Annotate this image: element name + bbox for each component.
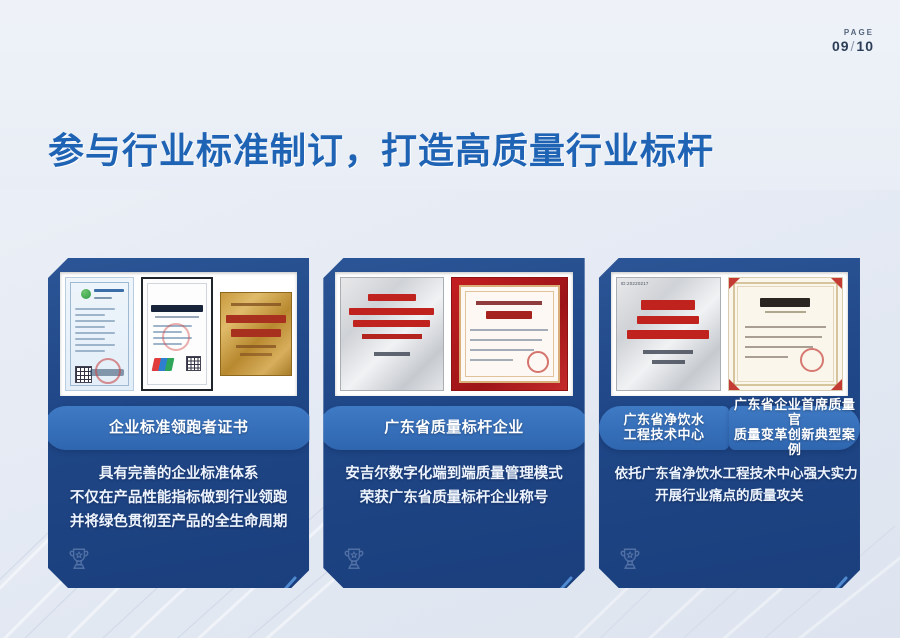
card-bottom-edge bbox=[70, 590, 283, 594]
card-body-line: 不仅在产品性能指标做到行业领跑 bbox=[64, 487, 293, 511]
card-label-pill[interactable]: 企业标准领跑者证书 bbox=[44, 406, 313, 450]
certificate-honor-2020 bbox=[451, 277, 568, 391]
plaque-id-tag: ID:20220217 bbox=[621, 281, 649, 286]
corner-stripes-decor bbox=[824, 558, 876, 602]
trophy-icon bbox=[341, 546, 367, 572]
card-body-line: 荣获广东省质量标杆企业称号 bbox=[339, 487, 568, 511]
page-indicator: PAGE 09/10 bbox=[832, 28, 874, 56]
card-body-text: 具有完善的企业标准体系 不仅在产品性能指标做到行业领跑 并将绿色贯彻至产品的全生… bbox=[64, 463, 293, 535]
plaque-national-green-factory bbox=[220, 292, 293, 376]
card-left-edge bbox=[593, 276, 597, 566]
card-enterprise-standard-leader[interactable]: 企业标准领跑者证书 具有完善的企业标准体系 不仅在产品性能指标做到行业领跑 并将… bbox=[48, 258, 309, 588]
card-left-edge bbox=[317, 276, 321, 566]
card-bottom-edge bbox=[345, 590, 558, 594]
card-label-pill[interactable]: 广东省质量标杆企业 bbox=[319, 406, 588, 450]
trophy-icon bbox=[66, 546, 92, 572]
corner-accent bbox=[831, 379, 842, 390]
plaque-quality-benchmark-2020 bbox=[340, 277, 443, 391]
card-body-line: 开展行业痛点的质量攻关 bbox=[615, 485, 844, 507]
card-body-text: 依托广东省净饮水工程技术中心强大实力 开展行业痛点的质量攻关 bbox=[615, 463, 844, 508]
card-guangdong-quality-benchmark[interactable]: 广东省质量标杆企业 安吉尔数字化端到端质量管理模式 荣获广东省质量标杆企业称号 bbox=[323, 258, 584, 588]
red-seal-icon bbox=[527, 351, 549, 373]
card-label-pill-left[interactable]: 广东省净饮水 工程技术中心 bbox=[599, 406, 730, 450]
cards-container: 企业标准领跑者证书 具有完善的企业标准体系 不仅在产品性能指标做到行业领跑 并将… bbox=[48, 258, 860, 588]
green-logo-icon bbox=[81, 289, 91, 299]
card-water-engineering-center[interactable]: ID:20220217 bbox=[599, 258, 860, 588]
certificate-standard-leader bbox=[141, 277, 212, 391]
card-body-text: 安吉尔数字化端到端质量管理模式 荣获广东省质量标杆企业称号 bbox=[339, 463, 568, 511]
page-separator: / bbox=[851, 38, 856, 54]
plaque-water-engineering-research-center: ID:20220217 bbox=[616, 277, 721, 391]
card-label-row: 广东省质量标杆企业 bbox=[323, 406, 584, 450]
card-label-pill-right[interactable]: 广东省企业首席质量官 质量变革创新典型案例 bbox=[729, 406, 860, 450]
page-current: 09 bbox=[832, 38, 850, 54]
certificate-panel: ID:20220217 bbox=[611, 272, 848, 396]
certificate-panel bbox=[60, 272, 297, 396]
corner-stripes-decor bbox=[273, 558, 325, 602]
card-label-row: 广东省净饮水 工程技术中心 广东省企业首席质量官 质量变革创新典型案例 bbox=[599, 406, 860, 450]
trophy-icon bbox=[617, 546, 643, 572]
certificate-honor bbox=[728, 277, 843, 391]
red-seal-icon bbox=[800, 348, 824, 372]
card-body-line: 安吉尔数字化端到端质量管理模式 bbox=[339, 463, 568, 487]
card-label-row: 企业标准领跑者证书 bbox=[48, 406, 309, 450]
certificate-panel bbox=[335, 272, 572, 396]
page-title: 参与行业标准制订，打造高质量行业标杆 bbox=[48, 122, 714, 174]
qr-code-icon bbox=[186, 356, 201, 371]
card-left-edge bbox=[42, 276, 46, 566]
card-body-line: 依托广东省净饮水工程技术中心强大实力 bbox=[615, 463, 844, 485]
certificate-product-certification bbox=[65, 277, 134, 391]
corner-accent bbox=[831, 278, 842, 289]
brand-logo-icon bbox=[152, 358, 175, 371]
corner-stripes-decor bbox=[549, 558, 601, 602]
slide-canvas: PAGE 09/10 参与行业标准制订，打造高质量行业标杆 bbox=[0, 0, 900, 638]
page-number: 09/10 bbox=[832, 38, 874, 56]
card-bottom-edge bbox=[621, 590, 834, 594]
card-body-line: 具有完善的企业标准体系 bbox=[64, 463, 293, 487]
card-body-line: 并将绿色贯彻至产品的全生命周期 bbox=[64, 511, 293, 535]
page-label: PAGE bbox=[832, 28, 874, 38]
corner-accent bbox=[729, 379, 740, 390]
corner-accent bbox=[729, 278, 740, 289]
page-total: 10 bbox=[856, 38, 874, 54]
